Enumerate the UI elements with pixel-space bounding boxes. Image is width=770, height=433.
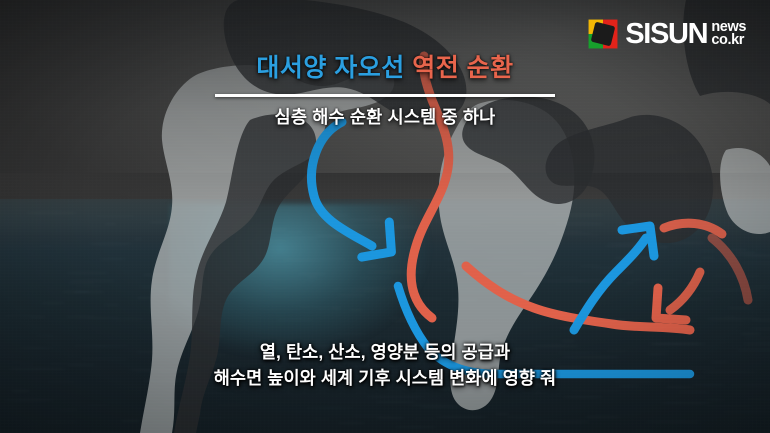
caption-line-2: 해수면 높이와 세계 기후 시스템 변화에 영향 줘: [0, 366, 770, 391]
headline-block: 대서양 자오선 역전 순환 심층 해수 순환 시스템 중 하나: [0, 48, 770, 129]
sisun-logo-mark: [586, 17, 620, 51]
caption-line-1: 열, 탄소, 산소, 영양분 등의 공급과: [0, 340, 770, 365]
title-segment-blue: 대서양 자오선: [256, 54, 412, 82]
page-title: 대서양 자오선 역전 순환: [0, 48, 770, 84]
bottom-caption: 열, 탄소, 산소, 영양분 등의 공급과 해수면 높이와 세계 기후 시스템 …: [0, 340, 770, 391]
title-divider-rule: [215, 94, 555, 97]
logo-suffix: news co.kr: [711, 21, 746, 48]
sisun-news-logo[interactable]: SISUN news co.kr: [586, 17, 746, 51]
title-segment-red: 역전 순환: [412, 54, 513, 82]
page-subtitle: 심층 해수 순환 시스템 중 하나: [0, 104, 770, 129]
logo-suffix-domain: co.kr: [711, 34, 746, 47]
logo-wordmark: SISUN: [625, 20, 707, 49]
infographic-canvas: SISUN news co.kr 대서양 자오선 역전 순환 심층 해수 순환 …: [0, 0, 770, 433]
